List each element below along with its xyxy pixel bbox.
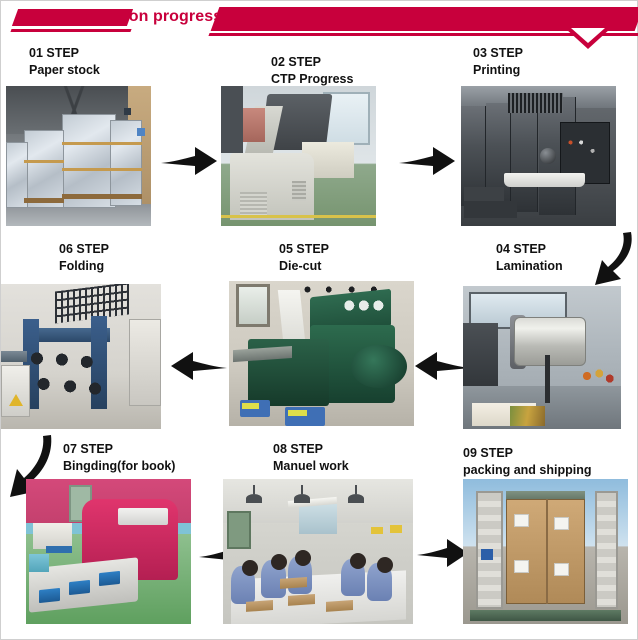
press-platform-lower [464, 201, 517, 218]
diecut-window [236, 284, 269, 328]
page-title: Production progress [63, 8, 222, 26]
arrow-step05-to-step06 [169, 346, 231, 391]
printed-book-1 [39, 588, 60, 603]
paper-pallet-stack-mid [24, 130, 64, 208]
arrow-step02-to-step03 [397, 141, 459, 186]
step-label-05: 05 STEP Die-cut [279, 241, 329, 275]
lamination-left-unit [463, 323, 498, 395]
step-number-07: 07 STEP [63, 441, 175, 458]
pallet-strap-1 [62, 142, 142, 145]
ctp-background-panel [243, 108, 265, 142]
step-name-08: Manuel work [273, 458, 349, 475]
lamination-support-post [545, 355, 550, 404]
carton-label-1 [514, 514, 529, 527]
production-progress-flowchart: Production progress 01 STEP Paper stock [0, 0, 638, 640]
folder-control-panel [1, 365, 30, 417]
step-name-06: Folding [59, 258, 109, 275]
ceiling-lamp-1 [246, 494, 262, 503]
ctp-vent-grille-side [292, 181, 306, 201]
arrow-curve-down-left-icon [587, 229, 638, 291]
workshop-window [299, 502, 337, 534]
step-label-08: 08 STEP Manuel work [273, 441, 349, 475]
lamp-stem-3 [355, 485, 357, 494]
step-photo-03-printing [461, 86, 616, 226]
diecut-gauges [344, 298, 388, 313]
step-name-09: packing and shipping [463, 462, 591, 479]
binding-paper-stacks [33, 523, 73, 549]
step-number-03: 03 STEP [473, 45, 523, 62]
step-name-07: Bingding(for book) [63, 458, 175, 475]
step-label-07: 07 STEP Bingding(for book) [63, 441, 175, 475]
printed-book-3 [99, 571, 120, 586]
press-unit-3 [511, 100, 539, 212]
ceiling-lamp-3 [348, 494, 364, 503]
step-photo-09-shipping [463, 479, 628, 624]
ctp-vent-grille-main [240, 192, 268, 214]
wall-notice-2 [371, 527, 382, 534]
carton-label-3 [514, 560, 529, 573]
step-name-04: Lamination [496, 258, 563, 275]
ceiling-lamp-2 [294, 494, 310, 503]
carton-label-4 [554, 563, 569, 576]
step-label-06: 06 STEP Folding [59, 241, 109, 275]
arrow-right-icon [159, 141, 221, 181]
press-platform-upper [464, 187, 504, 201]
floor-safety-stripe [221, 215, 376, 218]
step-photo-06-folding [1, 284, 161, 429]
pallet-strap-3 [24, 160, 64, 163]
step-label-02: 02 STEP CTP Progress [271, 54, 353, 88]
lamp-stem-2 [301, 485, 303, 494]
cardboard-piece-2 [288, 594, 315, 606]
printed-book-2 [69, 579, 90, 594]
step-number-08: 08 STEP [273, 441, 349, 458]
step-number-01: 01 STEP [29, 45, 100, 62]
wall-notice-1 [390, 525, 401, 532]
diecut-flywheel [351, 345, 407, 389]
folder-feed-belt [1, 351, 27, 363]
step-label-01: 01 STEP Paper stock [29, 45, 100, 79]
arrow-step01-to-step02 [159, 141, 221, 186]
step-number-04: 04 STEP [496, 241, 563, 258]
crate-label-front [288, 410, 307, 416]
step-photo-02-ctp [221, 86, 376, 226]
pallet-wood-base-2 [24, 198, 64, 203]
lamp-stem-1 [253, 485, 255, 494]
step-number-09: 09 STEP [463, 445, 591, 462]
press-indicator-lights [566, 134, 603, 162]
cargo-center-seam [546, 499, 548, 603]
step-photo-08-manual-work [223, 479, 413, 624]
step-number-05: 05 STEP [279, 241, 329, 258]
cardboard-piece-1 [246, 600, 273, 612]
pallet-wood-base-1 [62, 194, 142, 199]
step-name-03: Printing [473, 62, 523, 79]
press-control-knob [540, 148, 556, 164]
worker-2-head [271, 554, 287, 570]
folder-rollers [27, 348, 110, 406]
step-label-09: 09 STEP packing and shipping [463, 445, 591, 479]
banner-left-accent-line [10, 29, 131, 32]
step-photo-07-binding [26, 479, 191, 624]
cardboard-piece-4 [280, 577, 307, 589]
step-label-04: 04 STEP Lamination [496, 241, 563, 275]
arrow-right-icon [397, 141, 459, 181]
header-banner: Production progress [1, 7, 638, 43]
step-photo-04-lamination [463, 286, 621, 429]
carton-label-2 [554, 517, 569, 530]
truck-chassis [470, 610, 622, 622]
step-photo-01-paper-stock [6, 86, 151, 226]
step-name-05: Die-cut [279, 258, 329, 275]
worker-silhouette [124, 108, 131, 115]
press-delivery-tray [504, 173, 585, 187]
warning-triangle-icon [9, 394, 23, 406]
press-top-comb [508, 93, 564, 113]
pallet-strap-2 [62, 168, 142, 171]
lamination-control-knobs [580, 363, 615, 389]
folder-side-cabinet [129, 319, 161, 406]
cardboard-piece-3 [326, 600, 353, 612]
container-door-right [595, 491, 618, 610]
step-name-01: Paper stock [29, 62, 100, 79]
ctp-dark-wall-left [221, 86, 243, 153]
binding-pallet [46, 546, 72, 553]
binding-machine-panel [118, 508, 168, 525]
step-number-02: 02 STEP [271, 54, 353, 71]
arrow-left-icon [169, 346, 231, 386]
workshop-green-door [227, 511, 252, 549]
lamination-printed-sheet [510, 406, 545, 426]
container-door-placard [481, 549, 493, 561]
binding-blue-stool [29, 554, 49, 571]
banner-chevron-down-inner [571, 28, 605, 43]
wall-sign [137, 128, 145, 136]
step-number-06: 06 STEP [59, 241, 109, 258]
crate-label-left [242, 403, 259, 409]
step-photo-05-die-cut [229, 281, 414, 426]
step-label-03: 03 STEP Printing [473, 45, 523, 79]
worker-1-head [242, 560, 258, 576]
